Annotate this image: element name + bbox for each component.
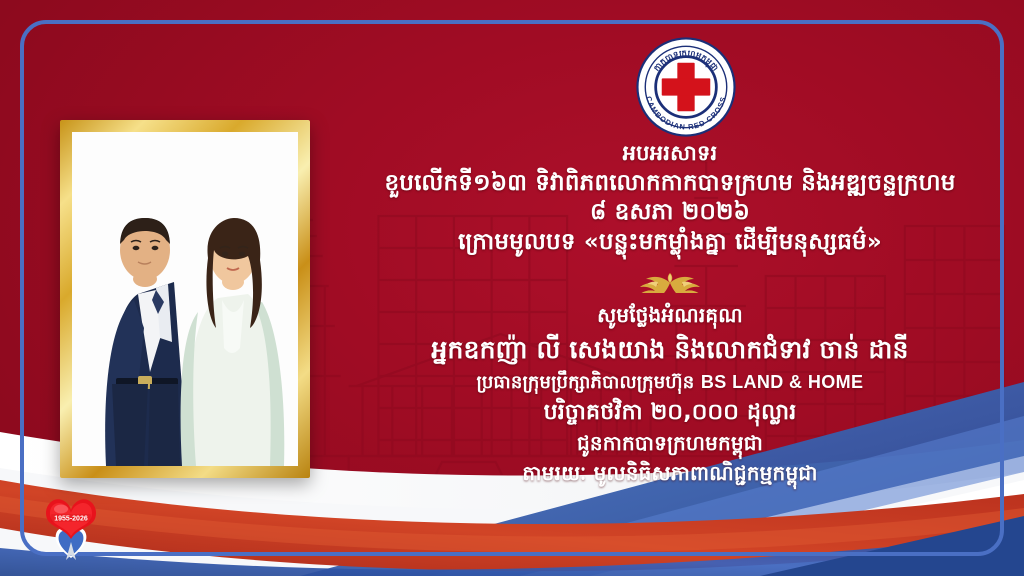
line-donation-amount: បរិច្ចាគថវិកា ២០,០០០ ដុល្លារ: [350, 399, 990, 427]
line-occasion: ខួបលើកទី១៦៣ ទិវាពិភពលោកកាកបាទក្រហម និងអឌ…: [350, 169, 990, 198]
line-date: ៨ ឧសភា ២០២៦: [350, 198, 990, 227]
role-prefix: ប្រធានក្រុមប្រឹក្សាភិបាលក្រុមហ៊ុន: [477, 372, 695, 393]
line-congrats: អបអរសាទរ: [350, 140, 990, 167]
line-thanks: សូមថ្លែងអំណរគុណ: [350, 303, 990, 329]
cambodian-red-cross-logo: កាកបាទក្រហមកម្ពុជា CAMBODIAN RED CROSS: [634, 35, 738, 139]
heart-anniversary-badge: 1955-2026: [38, 492, 104, 562]
line-role: ប្រធានក្រុមប្រឹក្សាភិបាលក្រុមហ៊ុន BS LAN…: [350, 371, 990, 394]
line-recipient: ជូនកាកបាទក្រហមកម្ពុជា: [350, 431, 990, 457]
line-theme: ក្រោមមូលបទ «បន្លុះមកម្ល៉ាំងគ្នា ដើម្បីមន…: [350, 228, 990, 257]
message-block: អបអរសាទរ ខួបលើកទី១៦៣ ទិវាពិភពលោកកាកបាទក្…: [350, 140, 990, 486]
gold-floral-ornament: [610, 271, 730, 293]
honoree-portrait-frame: [60, 120, 310, 478]
honoree-portrait: [72, 132, 298, 466]
poster-canvas: កាកបាទក្រហមកម្ពុជា CAMBODIAN RED CROSS: [0, 0, 1024, 576]
line-channel: តាមរយៈ មូលនិធិសភាពាណិជ្ជកម្មកម្ពុជា: [350, 461, 990, 487]
company-name: BS LAND & HOME: [701, 372, 864, 392]
line-donor-names: អ្នកឧកញ៉ា លី សេងយាង និងលោកជំទាវ ចាន់ ដាន…: [350, 334, 990, 366]
anniversary-years: 1955-2026: [54, 516, 88, 523]
